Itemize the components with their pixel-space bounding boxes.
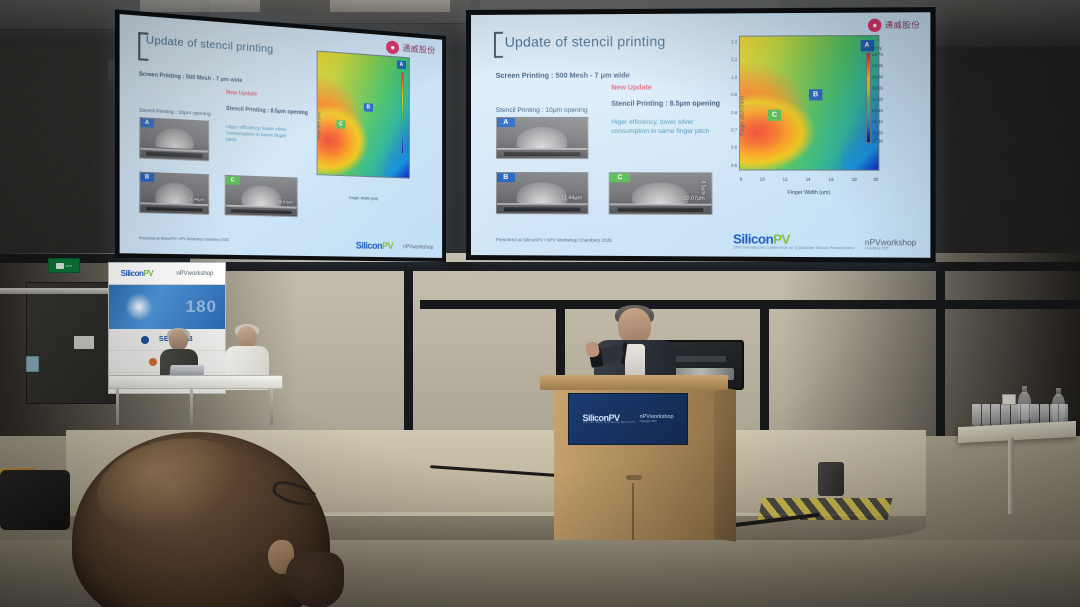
panel-table-legs xyxy=(112,389,277,425)
sem-dimension-c: 10.07μm xyxy=(278,200,293,205)
slide-subtitle: Screen Printing : 500 Mesh - 7 μm wide xyxy=(496,71,630,80)
refreshment-table-stem xyxy=(1008,438,1014,514)
contour-plot-area: A B C xyxy=(317,50,410,179)
table-leg xyxy=(270,389,273,425)
sem-finger-cross-section xyxy=(517,182,568,203)
npvworkshop-logo: nPVworkshop Chambery 2025 xyxy=(865,239,916,251)
sem-image-b: 11.44μm B xyxy=(139,171,209,214)
podium-door-seam xyxy=(632,483,634,540)
glass xyxy=(1001,404,1010,426)
sem-image-b: 11.44μm B xyxy=(496,172,589,214)
sem-scalebar xyxy=(504,152,580,156)
colorbar-tick: 24.30 xyxy=(872,139,883,144)
sem-scalebar xyxy=(146,206,203,211)
exit-running-man-glyph xyxy=(56,263,64,269)
plot-x-tick: 18 xyxy=(852,177,857,182)
npvworkshop-logo-subtitle: Chambery 2025 xyxy=(640,421,674,423)
efficiency-contour-plot: A B C Finger pitch (mm) Finger Width (um… xyxy=(307,49,409,202)
sem-image-c: 10.07μm C xyxy=(224,175,298,218)
new-update-headline: Stencil Printing : 8.5μm opening xyxy=(611,101,720,108)
sem-badge-b: B xyxy=(140,173,154,182)
sponsor-mark-icon xyxy=(141,336,149,344)
ceiling-light xyxy=(330,0,450,12)
presentation-slide-secondary: ● 通威股份 Update of stencil printing Screen… xyxy=(120,14,443,258)
colorbar-tick: 24.45 xyxy=(872,108,883,113)
sem-badge-a: A xyxy=(140,118,154,127)
slide-subtitle: Screen Printing : 500 Mesh - 7 μm wide xyxy=(139,71,242,84)
siliconpv-logo: SiliconPV xyxy=(356,241,393,250)
sem-finger-cross-section xyxy=(517,127,568,148)
presenter-shirt xyxy=(625,344,645,378)
plot-y-axis-label: Finger pitch (mm) xyxy=(317,111,321,139)
plot-y-tick: 1.1 xyxy=(731,57,737,62)
new-update-body: Higer efficiency, lower silver consumpti… xyxy=(611,119,712,137)
slide-footer: SiliconPV nPVworkshop xyxy=(356,241,434,251)
efficiency-contour-plot: A B C Finger pitch (mm) Finger Width (um… xyxy=(726,35,879,197)
projection-screen-left: ● 通威股份 Update of stencil printing Screen… xyxy=(115,9,446,262)
new-update-headline: Stencil Printing : 8.5μm opening xyxy=(226,106,308,117)
colorbar-tick: 24.60 xyxy=(872,74,883,79)
plot-x-tick: 16 xyxy=(829,176,834,181)
siliconpv-logo: SiliconPV 15th Int. Conf. Crystalline Si… xyxy=(582,414,635,425)
sem-image-c: 10.07μm 8.5μm C xyxy=(609,172,712,215)
siliconpv-logo: SiliconPV xyxy=(121,270,153,278)
banner-hero-image: 180 xyxy=(109,285,225,329)
colorbar-tick: 24.40 xyxy=(872,119,883,124)
plot-x-tick: 14 xyxy=(806,176,811,181)
colorbar-tick: 24.35 xyxy=(872,131,883,136)
foreground-bag xyxy=(0,470,70,530)
npvworkshop-logo-text: nPVworkshop xyxy=(176,271,213,277)
glass xyxy=(982,404,991,426)
plot-marker-b: B xyxy=(364,103,373,112)
sem-substrate xyxy=(610,204,711,206)
plot-x-axis-label: Finger Width (um) xyxy=(317,195,410,202)
table-tent-card xyxy=(1002,394,1016,405)
lecture-hall-scene: EXIT ● 通威股份 Update of stencil printing S… xyxy=(0,0,1080,607)
new-update-label: New Update xyxy=(226,90,257,98)
exit-door[interactable] xyxy=(26,282,118,404)
podium-side-panel xyxy=(714,386,736,541)
sem-badge-c: C xyxy=(225,176,239,185)
colorbar-tick: 24.70 xyxy=(872,51,883,56)
colorbar-tick: 24.55 xyxy=(872,85,883,90)
plot-y-axis-label: Finger pitch (mm) xyxy=(740,96,746,136)
plot-x-tick: 12 xyxy=(783,176,788,181)
sem-dimension-b: 11.44μm xyxy=(189,197,204,202)
slide-credit: Presented at SiliconPV / nPV Workshop Ch… xyxy=(139,236,229,242)
npvworkshop-logo: nPVworkshop xyxy=(176,271,213,277)
title-bracket-decoration xyxy=(494,32,503,58)
plot-y-tick: 0.7 xyxy=(731,127,737,132)
npvworkshop-logo: nPVworkshop Chambery 2025 xyxy=(640,415,674,423)
panel-table xyxy=(108,375,283,389)
plot-x-tick: 20 xyxy=(873,177,878,182)
company-name-cn: 通威股份 xyxy=(402,45,435,56)
sem-badge-a: A xyxy=(497,118,515,127)
door-sign xyxy=(74,336,94,349)
table-leg xyxy=(116,389,119,425)
ceiling-light xyxy=(140,0,260,12)
colorbar-title: Efficiency xyxy=(863,45,882,50)
sem-badge-b: B xyxy=(497,173,515,182)
plot-y-tick: 0.8 xyxy=(731,110,737,115)
company-name-cn: 通威股份 xyxy=(885,21,920,29)
sponsor-mark-icon xyxy=(149,358,157,366)
siliconpv-logo-subtitle: 15th Int. Conf. Crystalline Silicon PV xyxy=(582,422,635,424)
glass xyxy=(972,404,981,426)
banner-header: SiliconPV nPVworkshop xyxy=(109,263,225,285)
company-mark-icon: ● xyxy=(386,41,399,55)
plot-x-tick: 10 xyxy=(760,176,765,181)
plot-marker-c: C xyxy=(336,120,345,129)
wall-plate xyxy=(26,356,39,372)
sem-substrate xyxy=(497,203,588,205)
slide-title: Update of stencil printing xyxy=(505,33,666,50)
podium-top-surface xyxy=(540,375,728,390)
sem-finger-cross-section xyxy=(241,185,281,206)
wall-mullion xyxy=(180,262,1080,271)
plot-x-tick: 8 xyxy=(740,176,743,181)
siliconpv-logo-subtitle: 15th International Conference on Crystal… xyxy=(733,246,855,250)
plot-marker-b: B xyxy=(809,89,822,100)
waste-bin xyxy=(818,462,844,496)
presenter-head xyxy=(618,308,651,344)
plot-marker-a: A xyxy=(397,61,406,70)
sem-scalebar xyxy=(504,207,580,211)
panelist-head xyxy=(169,330,188,351)
sem-dimension-b: 11.44μm xyxy=(561,195,582,201)
colorbar-tick: 24.50 xyxy=(872,97,883,102)
podium-branding-sign: SiliconPV 15th Int. Conf. Crystalline Si… xyxy=(568,393,688,445)
podium-handle xyxy=(626,475,642,480)
new-update-body: Higer efficiency, lower silver consumpti… xyxy=(226,124,298,147)
contour-low-efficiency-region xyxy=(385,151,408,178)
slide-credit: Presented at SiliconPV / nPV Workshop Ch… xyxy=(496,237,612,243)
sem-substrate xyxy=(497,148,588,150)
siliconpv-logo-pv: PV xyxy=(382,241,393,251)
presentation-slide-main: ● 通威股份 Update of stencil printing Screen… xyxy=(471,12,930,258)
sem-image-a: A xyxy=(139,117,209,161)
podium: SiliconPV 15th Int. Conf. Crystalline Si… xyxy=(548,375,720,540)
plot-x-axis-label: Finger Width (um) xyxy=(739,190,878,196)
plot-y-tick: 0.9 xyxy=(731,92,737,97)
wall-mullion xyxy=(420,300,1080,309)
contour-plot-area: A B C xyxy=(739,35,878,171)
sem-finger-cross-section xyxy=(155,127,193,149)
npvworkshop-logo-subtitle: Chambery 2025 xyxy=(865,247,916,251)
sem-scalebar xyxy=(146,152,203,158)
new-update-label: New Update xyxy=(611,84,652,91)
projection-screen-right: ● 通威股份 Update of stencil printing Screen… xyxy=(466,7,936,263)
sem-scalebar xyxy=(618,208,703,212)
banner-sun-glow xyxy=(125,293,153,321)
sem-image-a: A xyxy=(496,117,589,159)
siliconpv-logo: SiliconPV 15th International Conference … xyxy=(733,234,855,250)
company-logo: ● 通威股份 xyxy=(868,18,920,32)
sem-finger-cross-section xyxy=(155,182,193,204)
npvworkshop-logo-text: nPVworkshop xyxy=(403,245,433,252)
plot-y-tick: 1.2 xyxy=(731,39,737,44)
exit-sign-label: EXIT xyxy=(66,264,73,268)
monitor-bezel-strip xyxy=(672,356,726,362)
siliconpv-logo-pv: PV xyxy=(143,269,153,278)
exit-sign-icon: EXIT xyxy=(48,258,80,273)
siliconpv-logo-silicon: Silicon xyxy=(121,269,144,278)
caption-stencil-printing-a: Stencil Printing : 10μm opening xyxy=(496,107,588,114)
siliconpv-logo-silicon: Silicon xyxy=(356,240,382,251)
plot-marker-c: C xyxy=(768,109,781,120)
audience-member-beard xyxy=(286,552,344,607)
table-leg xyxy=(190,389,193,425)
colorbar xyxy=(866,52,871,142)
colorbar xyxy=(401,72,404,154)
panelist-head xyxy=(237,326,257,348)
sem-finger-cross-section xyxy=(632,182,689,203)
sem-dimension-c: 10.07μm xyxy=(683,196,705,202)
slide-footer: SiliconPV 15th International Conference … xyxy=(733,234,916,251)
sem-scalebar xyxy=(231,209,291,214)
plot-y-tick: 0.5 xyxy=(731,163,737,168)
glass xyxy=(991,404,1000,426)
caption-stencil-printing-a: Stencil Printing : 10μm opening xyxy=(139,107,211,116)
plot-y-tick: 1.0 xyxy=(731,74,737,79)
npvworkshop-logo: nPVworkshop xyxy=(403,246,433,252)
company-mark-icon: ● xyxy=(868,19,882,32)
plot-y-tick: 0.6 xyxy=(731,145,737,150)
water-carafe xyxy=(1018,392,1031,420)
slide-title: Update of stencil printing xyxy=(146,35,274,56)
sem-badge-c: C xyxy=(610,173,630,182)
banner-hero-text: 180 xyxy=(186,297,225,317)
water-carafe xyxy=(1052,394,1065,422)
sem-dimension-c-vertical: 8.5μm xyxy=(700,181,706,195)
colorbar-tick: 24.65 xyxy=(872,63,883,68)
contour-low-efficiency-region xyxy=(842,140,878,169)
